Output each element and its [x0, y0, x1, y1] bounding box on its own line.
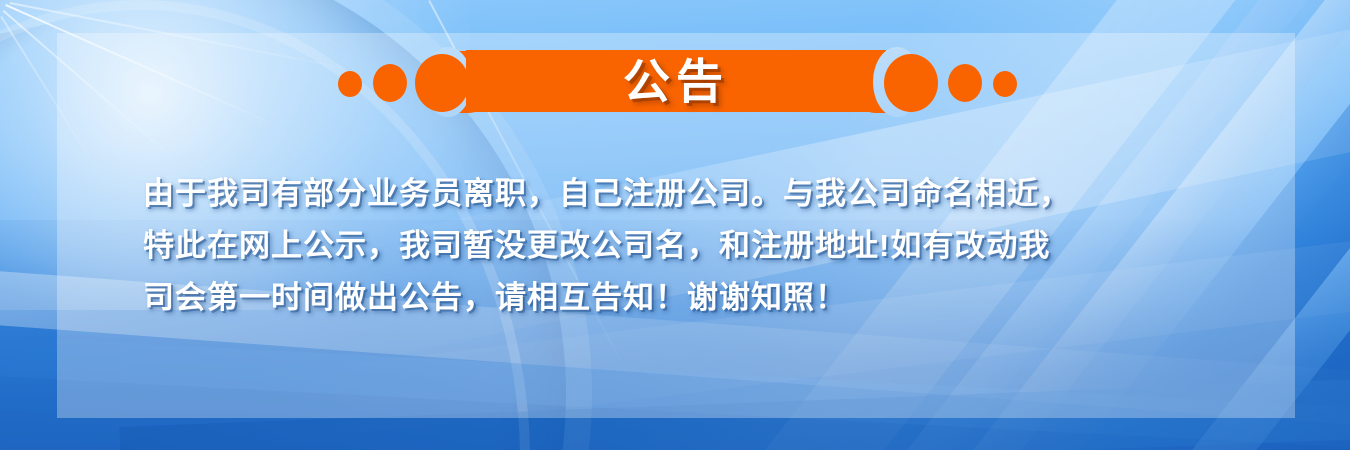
header-ribbon: 公告 [0, 50, 1350, 114]
ribbon-dot-right-medium [948, 64, 982, 102]
announcement-line-3: 司会第一时间做出公告，请相互告知！谢谢知照！ [143, 272, 1228, 324]
announcement-body: 由于我司有部分业务员离职，自己注册公司。与我公司命名相近， 特此在网上公示，我司… [143, 168, 1228, 324]
ribbon-dot-right-small [993, 71, 1017, 97]
ribbon-circle-left-large-front [415, 54, 469, 112]
ribbon-circle-right-large [884, 54, 938, 112]
ribbon-dot-left-small [338, 71, 362, 97]
ribbon-dot-left-medium [373, 64, 407, 102]
announcement-line-1: 由于我司有部分业务员离职，自己注册公司。与我公司命名相近， [143, 168, 1228, 220]
announcement-banner: 公告 由于我司有部分业务员离职，自己注册公司。与我公司命名相近， 特此在网上公示… [0, 0, 1350, 450]
announcement-line-2: 特此在网上公示，我司暂没更改公司名，和注册地址!如有改动我 [143, 220, 1228, 272]
page-title: 公告 [466, 50, 886, 112]
